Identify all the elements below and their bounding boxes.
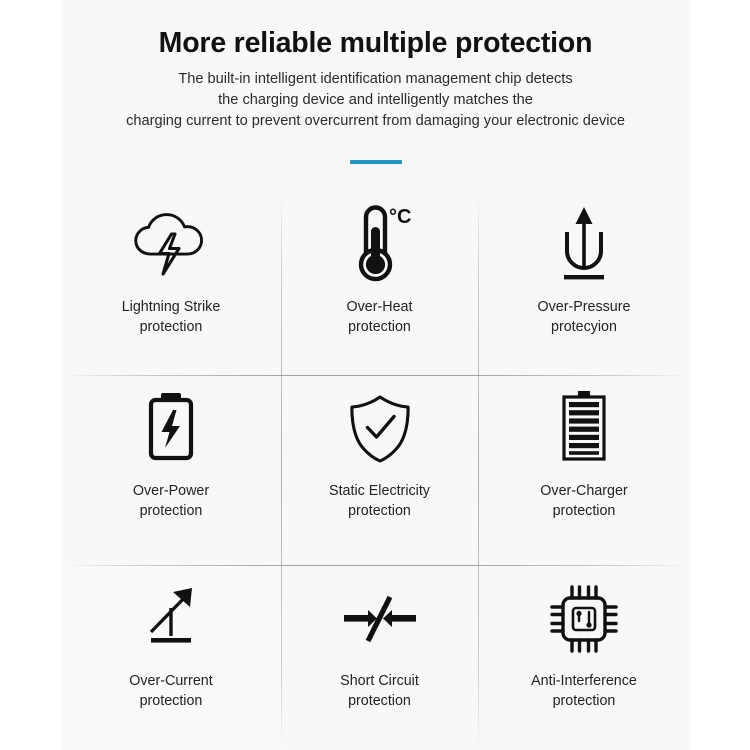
page-subtitle: The built-in intelligent identification … — [61, 69, 690, 131]
feature-cell-static-electricity: Static Electricity protection — [281, 375, 478, 565]
feature-title: Over-Charger — [540, 481, 627, 501]
accent-divider-wrap — [61, 151, 690, 169]
feature-label: Over-Current protection — [129, 671, 212, 712]
feature-label: Static Electricity protection — [329, 481, 430, 522]
feature-subtitle: protection — [540, 501, 627, 521]
feature-label: Over-Heat protection — [347, 297, 413, 338]
grid-divider-vertical — [281, 191, 282, 750]
feature-cell-lightning-strike: Lightning Strike protection — [61, 191, 281, 375]
feature-cell-over-power: Over-Power protection — [61, 375, 281, 565]
feature-label: Over-Pressure protecyion — [538, 297, 631, 338]
thermometer-icon: °C — [348, 197, 412, 293]
grid-divider-horizontal — [61, 565, 690, 566]
feature-subtitle: protection — [129, 691, 212, 711]
feature-label: Anti-Interference protection — [531, 671, 637, 712]
short-circuit-icon — [342, 571, 418, 667]
header: More reliable multiple protection The bu… — [61, 0, 690, 169]
page-title: More reliable multiple protection — [61, 28, 690, 59]
feature-title: Over-Pressure — [538, 297, 631, 317]
feature-title: Short Circuit — [340, 671, 419, 691]
feature-label: Over-Power protection — [133, 481, 209, 522]
shield-check-icon — [347, 381, 413, 477]
feature-subtitle: protecyion — [538, 317, 631, 337]
feature-subtitle: protection — [133, 501, 209, 521]
feature-grid: Lightning Strike protection °C — [61, 191, 690, 750]
accent-divider — [350, 160, 402, 164]
feature-title: Over-Power — [133, 481, 209, 501]
feature-subtitle: protection — [340, 691, 419, 711]
feature-label: Short Circuit protection — [340, 671, 419, 712]
infographic-page: More reliable multiple protection The bu… — [0, 0, 750, 750]
battery-full-bars-icon — [556, 381, 612, 477]
feature-title: Over-Current — [129, 671, 212, 691]
subtitle-line-3: charging current to prevent overcurrent … — [61, 111, 690, 132]
feature-cell-over-current: Over-Current protection — [61, 565, 281, 750]
feature-cell-over-heat: °C Over-Heat protection — [281, 191, 478, 375]
grid-divider-horizontal — [61, 375, 690, 376]
pressure-arrow-up-icon — [553, 197, 615, 293]
feature-title: Static Electricity — [329, 481, 430, 501]
subtitle-line-2: the charging device and intelligently ma… — [61, 90, 690, 111]
rising-arrow-icon — [140, 571, 202, 667]
subtitle-line-1: The built-in intelligent identification … — [61, 69, 690, 90]
feature-label: Lightning Strike protection — [122, 297, 221, 338]
feature-subtitle: protection — [329, 501, 430, 521]
feature-title: Lightning Strike — [122, 297, 221, 317]
feature-cell-over-pressure: Over-Pressure protecyion — [478, 191, 690, 375]
feature-subtitle: protection — [531, 691, 637, 711]
feature-cell-short-circuit: Short Circuit protection — [281, 565, 478, 750]
battery-bolt-icon — [143, 381, 199, 477]
grid-divider-vertical — [478, 191, 479, 750]
feature-subtitle: protection — [122, 317, 221, 337]
feature-title: Over-Heat — [347, 297, 413, 317]
feature-title: Anti-Interference — [531, 671, 637, 691]
thermometer-unit-label: °C — [389, 206, 411, 228]
feature-cell-anti-interference: Anti-Interference protection — [478, 565, 690, 750]
cloud-lightning-icon — [134, 197, 208, 293]
feature-cell-over-charger: Over-Charger protection — [478, 375, 690, 565]
cpu-chip-icon — [546, 571, 622, 667]
feature-label: Over-Charger protection — [540, 481, 627, 522]
feature-subtitle: protection — [347, 317, 413, 337]
